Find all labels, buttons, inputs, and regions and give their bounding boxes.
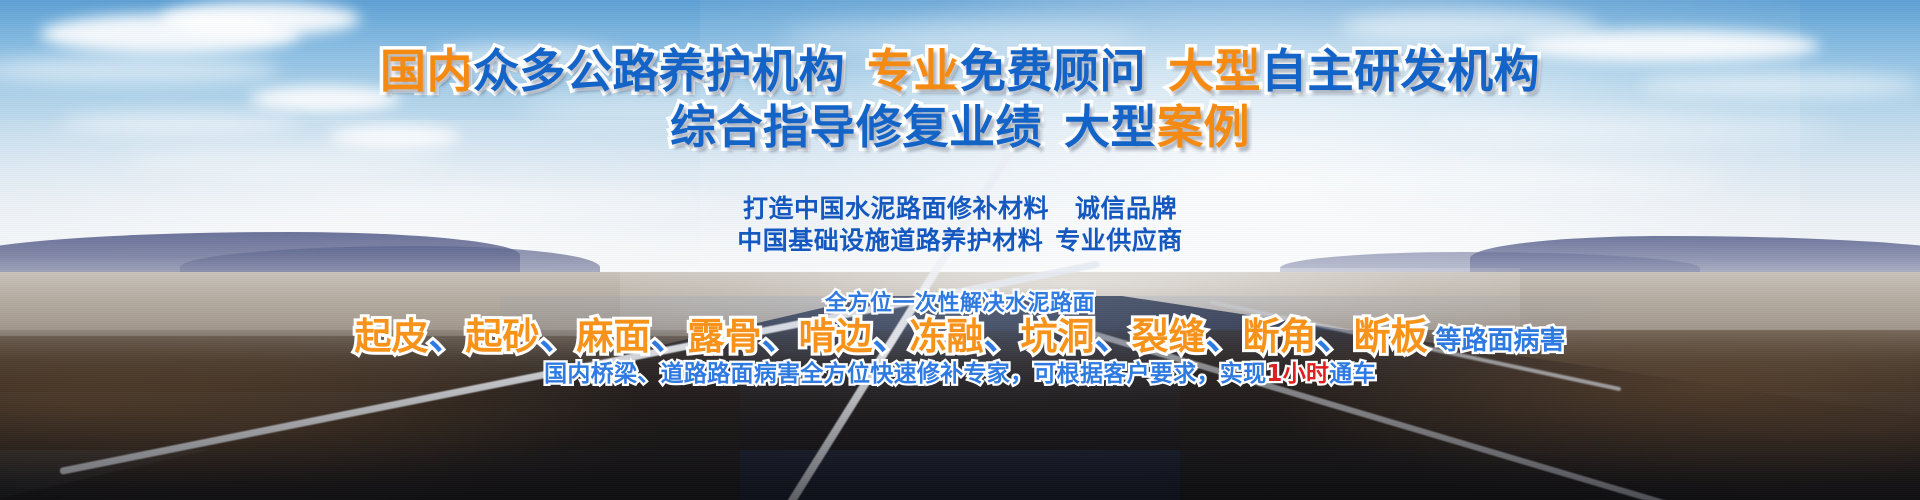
headline-line-2: 综合指导修复业绩大型案例	[0, 104, 1920, 150]
claim-text-b: 通车	[1329, 361, 1376, 387]
claim-highlight: 1小时	[1266, 361, 1329, 387]
distress-item: 坑洞	[1020, 315, 1094, 358]
distress-sep: 、	[1316, 315, 1353, 358]
distress-item: 裂缝	[1131, 315, 1205, 358]
promo-banner: 国内众多公路养护机构专业免费顾问大型自主研发机构 综合指导修复业绩大型案例 打造…	[0, 0, 1920, 500]
headline-l1-seg-4: 免费顾问	[960, 44, 1146, 98]
distress-item: 起砂	[465, 315, 539, 358]
distress-sep: 、	[539, 315, 576, 358]
headline-l2-seg-2: 大型	[1064, 100, 1157, 154]
headline-l1-seg-3: 专业	[867, 44, 960, 98]
banner-copy: 国内众多公路养护机构专业免费顾问大型自主研发机构 综合指导修复业绩大型案例 打造…	[0, 0, 1920, 500]
midblock-l1-tag: 诚信品牌	[1075, 194, 1177, 223]
distress-sep: 、	[761, 315, 798, 358]
distress-item: 断板	[1353, 315, 1427, 358]
headline-line-1: 国内众多公路养护机构专业免费顾问大型自主研发机构	[0, 48, 1920, 94]
distress-list: 起皮、起砂、麻面、露骨、啃边、冻融、坑洞、裂缝、断角、断板等路面病害	[0, 318, 1920, 355]
distress-tail: 等路面病害	[1435, 326, 1565, 356]
distress-item: 露骨	[687, 315, 761, 358]
midblock-l2-tag: 专业供应商	[1055, 226, 1183, 255]
distress-sep: 、	[1094, 315, 1131, 358]
bottom-eyebrow-text: 全方位一次性解决水泥路面	[825, 291, 1095, 316]
distress-sep: 、	[428, 315, 465, 358]
headline-l2-seg-3: 案例	[1157, 100, 1250, 154]
headline-l2-seg-1: 综合指导修复业绩	[670, 100, 1042, 154]
midblock-line-1: 打造中国水泥路面修补材料诚信品牌	[0, 196, 1920, 221]
distress-item: 起皮	[354, 315, 428, 358]
bottom-claim: 国内桥梁、道路路面病害全方位快速修补专家，可根据客户要求，实现1小时通车	[0, 363, 1920, 386]
distress-item: 冻融	[909, 315, 983, 358]
headline-l1-seg-1: 国内	[380, 44, 473, 98]
distress-item: 断角	[1242, 315, 1316, 358]
headline-l1-seg-2: 众多公路养护机构	[473, 44, 845, 98]
headline-l1-seg-5: 大型	[1168, 44, 1261, 98]
distress-sep: 、	[983, 315, 1020, 358]
midblock-line-2: 中国基础设施道路养护材料专业供应商	[0, 228, 1920, 253]
bottom-eyebrow: 全方位一次性解决水泥路面	[0, 293, 1920, 315]
distress-item: 麻面	[576, 315, 650, 358]
distress-sep: 、	[1205, 315, 1242, 358]
midblock-l1-main: 打造中国水泥路面修补材料	[743, 194, 1049, 223]
distress-sep: 、	[872, 315, 909, 358]
distress-sep: 、	[650, 315, 687, 358]
headline-l1-seg-6: 自主研发机构	[1261, 44, 1540, 98]
distress-item: 啃边	[798, 315, 872, 358]
claim-text-a: 国内桥梁、道路路面病害全方位快速修补专家，可根据客户要求，实现	[544, 361, 1266, 387]
midblock-l2-main: 中国基础设施道路养护材料	[737, 226, 1043, 255]
